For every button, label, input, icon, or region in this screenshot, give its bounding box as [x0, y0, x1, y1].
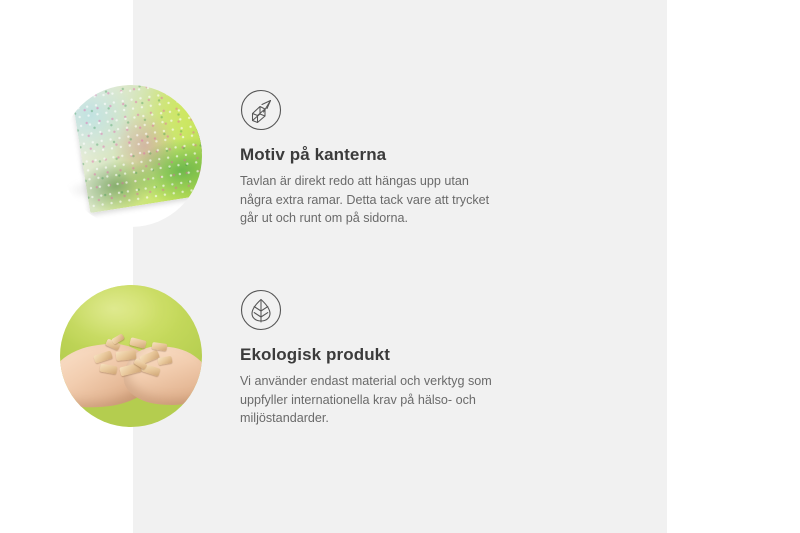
- feature-block-ekologisk-produkt: Ekologisk produkt Vi använder endast mat…: [60, 285, 502, 428]
- hands-holding-wood-chips-photo: [60, 285, 202, 427]
- wood-chips-pile: [90, 335, 176, 385]
- feature-text-column: Motiv på kanterna Tavlan är direkt redo …: [240, 85, 502, 228]
- canvas-wrapped-edges-icon: [240, 89, 282, 131]
- leaf-icon: [240, 289, 282, 331]
- feature-title: Motiv på kanterna: [240, 145, 502, 165]
- content-panel: [133, 0, 667, 533]
- paint-speckle-texture: [70, 85, 202, 213]
- product-features-banner: Motiv på kanterna Tavlan är direkt redo …: [0, 0, 800, 533]
- feature-body: Tavlan är direkt redo att hängas upp uta…: [240, 172, 502, 228]
- feature-body: Vi använder endast material och verktyg …: [240, 372, 502, 428]
- feature-title: Ekologisk produkt: [240, 345, 502, 365]
- feature-text-column: Ekologisk produkt Vi använder endast mat…: [240, 285, 502, 428]
- canvas-print-corner-photo: [60, 85, 202, 227]
- canvas-printed-face: [70, 85, 202, 213]
- feature-block-motiv-pa-kanterna: Motiv på kanterna Tavlan är direkt redo …: [60, 85, 502, 228]
